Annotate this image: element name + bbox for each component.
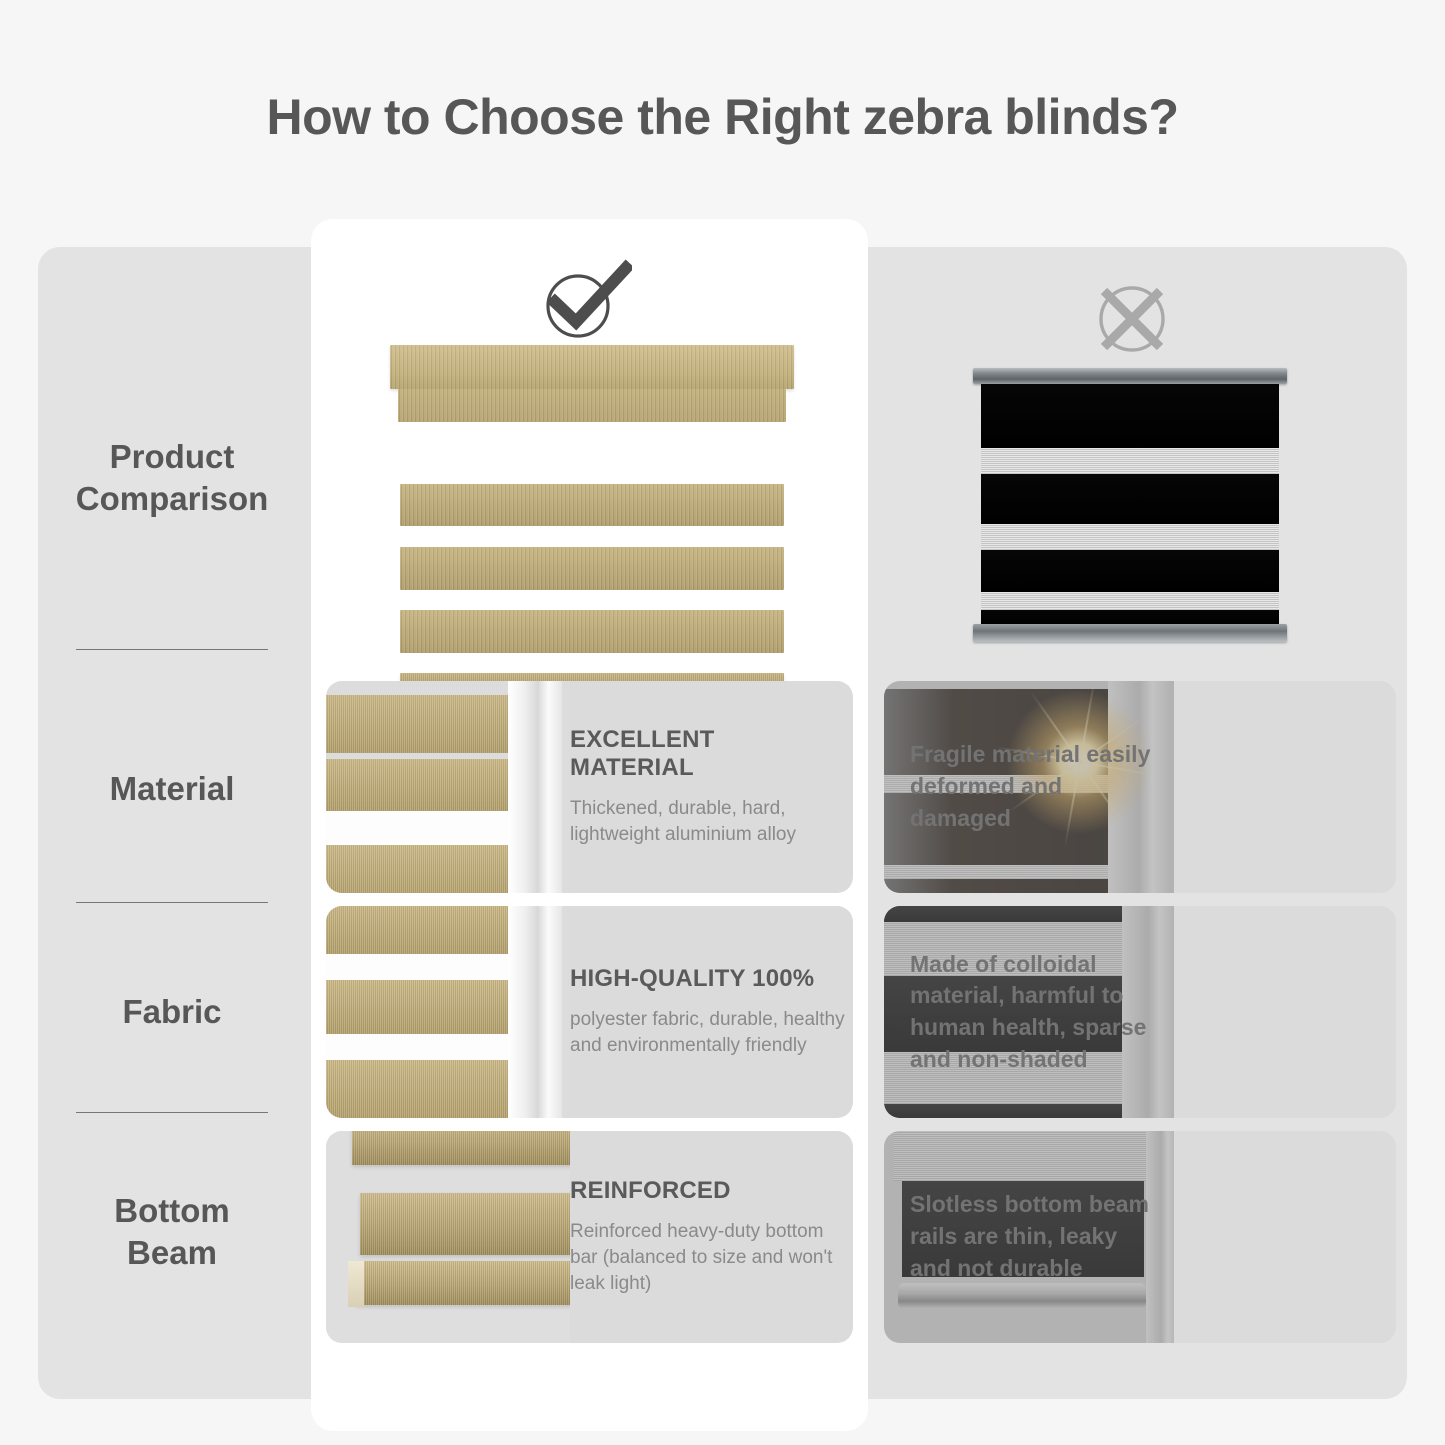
negative-text-material: Fragile material easily deformed and dam… (910, 681, 1160, 893)
feature-desc: Thickened, durable, hard, lightweight al… (570, 796, 845, 848)
window-frame (508, 906, 562, 1118)
black-band-4 (981, 610, 1279, 624)
black-blind-headrail (973, 368, 1287, 384)
reinforced-bottom-bar (356, 1261, 570, 1305)
black-band-2 (981, 474, 1279, 524)
infographic-page: How to Choose the Right zebra blinds? Pr… (0, 0, 1445, 1445)
beige-blind-fabric-closeup-image (326, 906, 570, 1118)
feature-desc: Reinforced heavy-duty bottom bar (balanc… (570, 1219, 845, 1298)
row-label-bottom-beam: Bottom Beam (52, 1190, 292, 1274)
thumb-slat-1 (326, 906, 514, 954)
sheer-band-3 (981, 592, 1279, 610)
feature-text-fabric: HIGH-QUALITY 100% polyester fabric, dura… (570, 906, 845, 1118)
thumb-slat-1 (326, 695, 514, 753)
row-label-line2: Beam (52, 1232, 292, 1274)
negative-text-bottom-beam: Slotless bottom beam rails are thin, lea… (910, 1131, 1160, 1343)
black-band-1 (981, 384, 1279, 448)
negative-text-fabric: Made of colloidal material, harmful to h… (910, 906, 1160, 1118)
row-divider-1 (76, 649, 268, 650)
blind-slat-4 (400, 610, 784, 653)
thumb-slat-2 (326, 759, 514, 811)
blind-slat-2 (400, 484, 784, 526)
thumb-slat-3 (326, 1060, 514, 1118)
row-label-material: Material (52, 768, 292, 810)
feature-card-fabric-bad: Made of colloidal material, harmful to h… (884, 906, 1396, 1118)
black-band-3 (981, 550, 1279, 592)
thumb-slat-3 (326, 845, 514, 893)
feature-title: EXCELLENT MATERIAL (570, 726, 845, 782)
row-divider-2 (76, 902, 268, 903)
sheer-band-1 (981, 448, 1279, 474)
thumb-slat-2 (326, 980, 514, 1034)
thumb-gap-1 (326, 811, 514, 845)
feature-desc: polyester fabric, durable, healthy and e… (570, 1007, 845, 1059)
cross-circle-icon (1088, 275, 1176, 363)
thumb-gap-1 (326, 954, 514, 980)
blind-headrail (390, 345, 794, 389)
feature-card-bottom-beam-good: REINFORCED Reinforced heavy-duty bottom … (326, 1131, 853, 1343)
black-zebra-blind-image (973, 368, 1287, 642)
feature-text-material: EXCELLENT MATERIAL Thickened, durable, h… (570, 681, 845, 893)
blind-slat-3 (400, 547, 784, 590)
row-label-line2: Comparison (52, 478, 292, 520)
row-label-product-comparison: Product Comparison (52, 436, 292, 520)
black-blind-bottom-rail (973, 624, 1287, 642)
beam-slat-upper (352, 1131, 570, 1165)
page-title: How to Choose the Right zebra blinds? (0, 88, 1445, 146)
feature-card-material-bad: Fragile material easily deformed and dam… (884, 681, 1396, 893)
row-label-line1: Product (52, 436, 292, 478)
sheer-band-2 (981, 524, 1279, 550)
thumb-gap-2 (326, 1034, 514, 1060)
row-label-line1: Bottom (52, 1190, 292, 1232)
row-divider-3 (76, 1112, 268, 1113)
bottom-bar-end-cap (348, 1261, 364, 1307)
check-circle-icon (536, 258, 632, 344)
feature-card-fabric-good: HIGH-QUALITY 100% polyester fabric, dura… (326, 906, 853, 1118)
beige-bottom-beam-closeup-image (326, 1131, 570, 1343)
feature-card-bottom-beam-bad: Slotless bottom beam rails are thin, lea… (884, 1131, 1396, 1343)
window-frame (508, 681, 562, 893)
feature-text-bottom-beam: REINFORCED Reinforced heavy-duty bottom … (570, 1131, 845, 1343)
blind-slat-1 (398, 389, 786, 422)
feature-title: REINFORCED (570, 1177, 845, 1205)
feature-card-material-good: EXCELLENT MATERIAL Thickened, durable, h… (326, 681, 853, 893)
row-label-fabric: Fabric (52, 991, 292, 1033)
beige-zebra-blind-image (390, 345, 794, 665)
feature-title: HIGH-QUALITY 100% (570, 965, 845, 993)
beige-blind-window-closeup-image (326, 681, 570, 893)
beam-slat-middle (360, 1193, 570, 1255)
